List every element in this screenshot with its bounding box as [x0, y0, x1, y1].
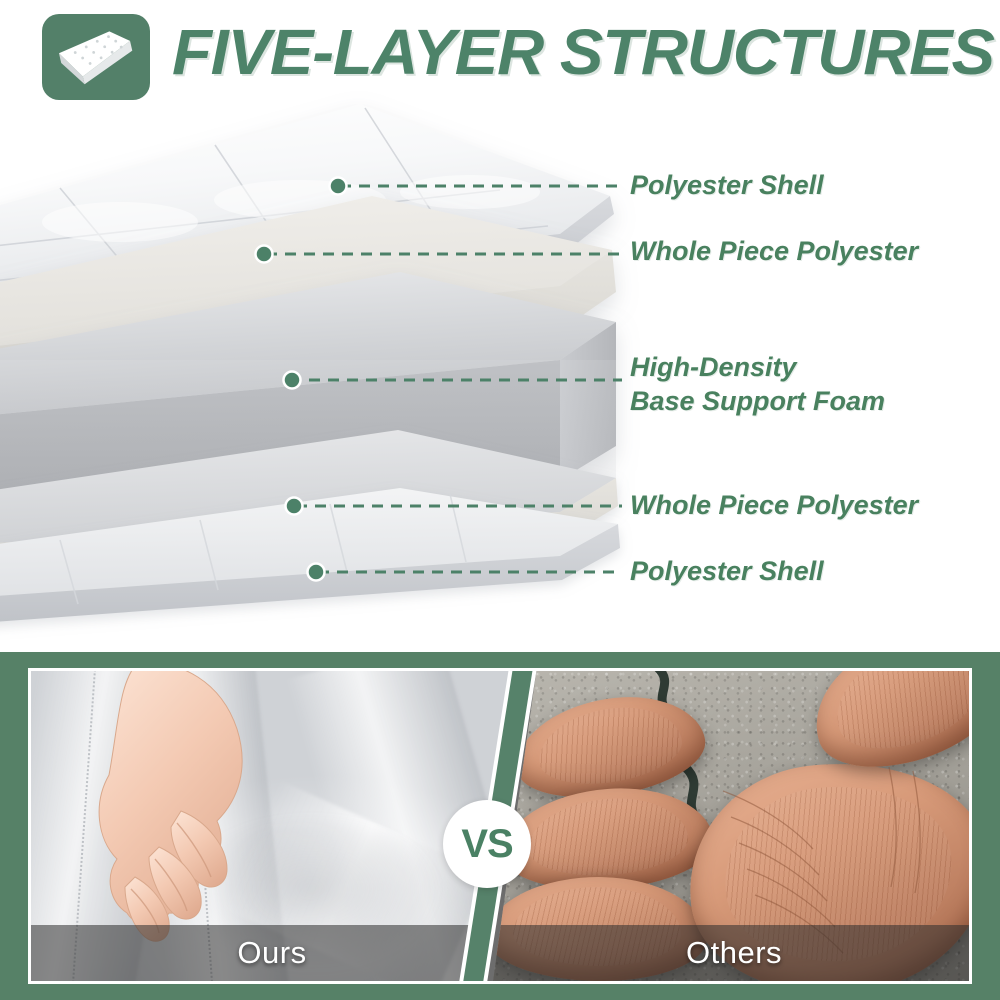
mattress-icon [42, 14, 150, 100]
caption-bar-others: Others [493, 925, 972, 981]
caption-ours: Ours [237, 936, 306, 970]
vs-badge: VS [443, 800, 531, 888]
layer-label-polyester-shell-bottom: Polyester Shell [630, 554, 824, 588]
caption-others: Others [686, 936, 782, 970]
page-title: FIVE-LAYER STRUCTURES [172, 8, 1000, 96]
callout-dot-3 [284, 372, 301, 389]
infographic-root: Polyester Shell Whole Piece Polyester Hi… [0, 0, 1000, 1000]
layer-label-whole-piece-polyester-upper: Whole Piece Polyester [630, 234, 918, 268]
callout-dot-4 [286, 498, 303, 515]
callout-dot-2 [256, 246, 273, 263]
callout-dot-1 [330, 178, 347, 195]
header: FIVE-LAYER STRUCTURES [0, 0, 1000, 108]
layer-label-high-density-base-support-foam: High-Density Base Support Foam [630, 350, 885, 418]
layer-label-whole-piece-polyester-lower: Whole Piece Polyester [630, 488, 918, 522]
comparison-panel-others: Others [493, 671, 972, 981]
vs-label: VS [461, 824, 512, 864]
callout-dot-5 [308, 564, 325, 581]
layer-label-polyester-shell-top: Polyester Shell [630, 168, 824, 202]
comparison-panel-ours: Ours [31, 671, 513, 981]
caption-bar-ours: Ours [31, 925, 513, 981]
